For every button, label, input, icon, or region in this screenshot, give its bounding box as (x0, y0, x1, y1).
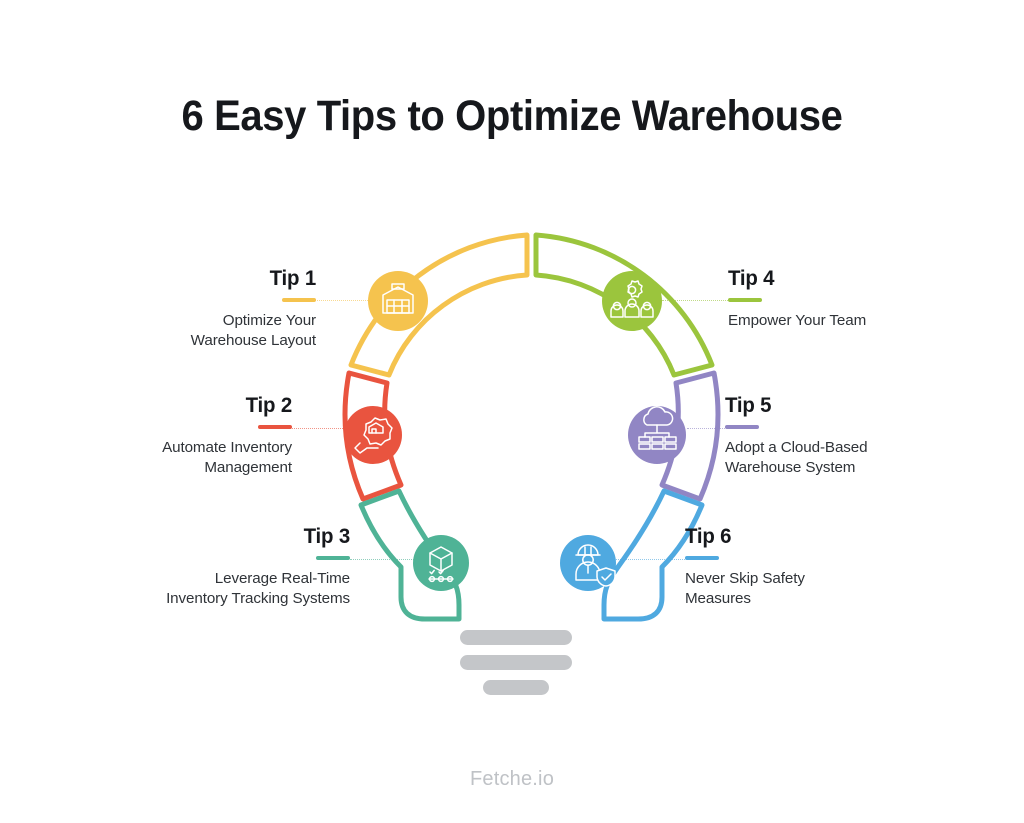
tip4-icon-badge[interactable] (602, 271, 662, 331)
tip-connector-2 (280, 428, 345, 429)
tip-label-6: Tip 6 (685, 524, 951, 549)
tip-connector-1 (303, 300, 370, 301)
tip-description-1: Optimize Your Warehouse Layout (60, 311, 316, 351)
tip2-icon-badge[interactable] (344, 406, 402, 464)
tip-connector-6 (612, 559, 685, 560)
tip-rule-4 (728, 298, 762, 302)
tip-description-5: Adopt a Cloud-Based Warehouse System (725, 438, 1001, 478)
tip-block-2: Tip 2 Automate Inventory Management (30, 393, 292, 478)
bulb-base (460, 630, 572, 695)
tip1-icon-badge[interactable] (368, 271, 428, 331)
infographic-canvas: 6 Easy Tips to Optimize Warehouse (0, 0, 1024, 823)
tip-description-3: Leverage Real-Time Inventory Tracking Sy… (20, 569, 350, 609)
tip-block-1: Tip 1 Optimize Your Warehouse Layout (60, 266, 316, 351)
tip-label-5: Tip 5 (725, 393, 987, 418)
tip-rule-6 (685, 556, 719, 560)
tip-label-2: Tip 2 (43, 393, 292, 418)
tip-block-3: Tip 3 Leverage Real-Time Inventory Track… (20, 524, 350, 609)
tip-label-1: Tip 1 (73, 266, 316, 291)
tip-connector-4 (662, 300, 728, 301)
tip-block-5: Tip 5 Adopt a Cloud-Based Warehouse Syst… (725, 393, 1001, 478)
tip5-icon-badge[interactable] (628, 406, 686, 464)
tip-rule-3 (316, 556, 350, 560)
tip-rule-5 (725, 425, 759, 429)
tip-block-4: Tip 4 Empower Your Team (728, 266, 998, 331)
tip-label-3: Tip 3 (37, 524, 351, 549)
tip-description-2: Automate Inventory Management (30, 438, 292, 478)
tip3-icon-badge[interactable] (413, 535, 469, 591)
tip6-icon-badge[interactable] (560, 535, 616, 591)
tip-connector-5 (687, 428, 725, 429)
page-title: 6 Easy Tips to Optimize Warehouse (36, 92, 988, 140)
tip-label-4: Tip 4 (728, 266, 985, 291)
tip-connector-3 (350, 559, 414, 560)
tip-description-4: Empower Your Team (728, 311, 998, 331)
tip-block-6: Tip 6 Never Skip Safety Measures (685, 524, 965, 609)
lightbulb-diagram (305, 215, 725, 725)
brand-footer: Fetche.io (0, 768, 1024, 791)
tip-description-6: Never Skip Safety Measures (685, 569, 965, 609)
